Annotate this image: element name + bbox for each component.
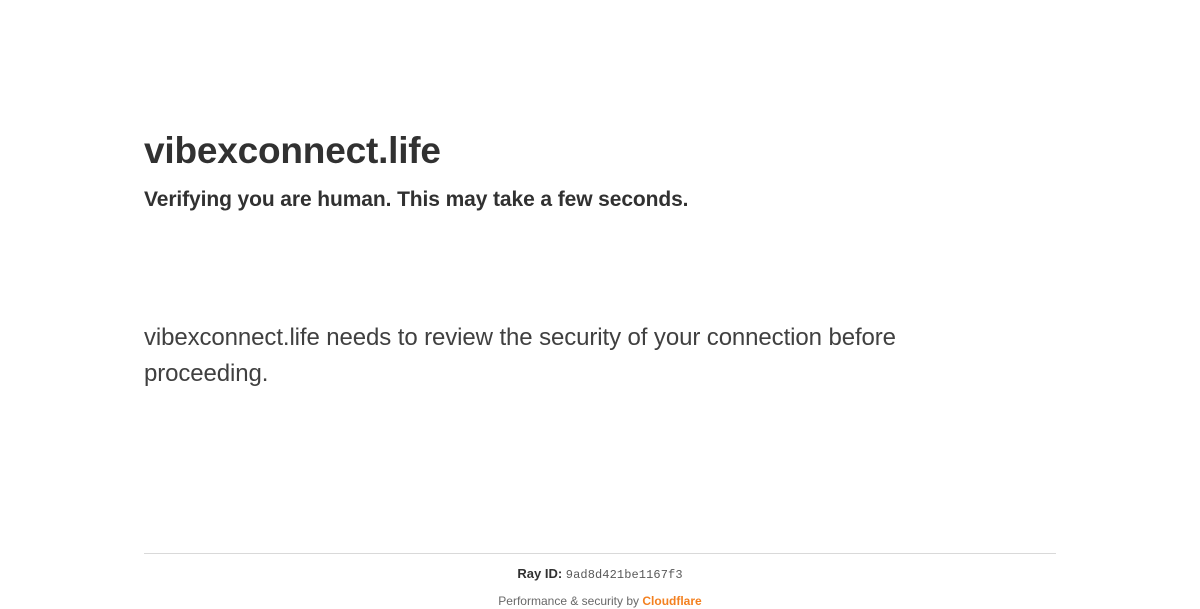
turnstile-challenge-widget[interactable] — [144, 248, 464, 314]
heading-block: vibexconnect.life Verifying you are huma… — [144, 128, 1056, 214]
cloudflare-link[interactable]: Cloudflare — [642, 594, 701, 608]
description-text: vibexconnect.life needs to review the se… — [144, 320, 944, 392]
attribution-line: Performance & security by Cloudflare — [144, 583, 1056, 609]
challenge-page: vibexconnect.life Verifying you are huma… — [0, 0, 1200, 600]
ray-id-line: Ray ID: 9ad8d421be1167f3 — [144, 554, 1056, 583]
ray-id-label: Ray ID: — [517, 566, 562, 581]
verification-status-text: Verifying you are human. This may take a… — [144, 174, 1056, 214]
content-container: vibexconnect.life Verifying you are huma… — [144, 0, 1056, 600]
attribution-prefix: Performance & security by — [498, 594, 642, 608]
page-title: vibexconnect.life — [144, 128, 1056, 174]
description-block: vibexconnect.life needs to review the se… — [144, 320, 944, 392]
page-footer: Ray ID: 9ad8d421be1167f3 Performance & s… — [144, 553, 1056, 609]
ray-id-value: 9ad8d421be1167f3 — [566, 568, 683, 582]
